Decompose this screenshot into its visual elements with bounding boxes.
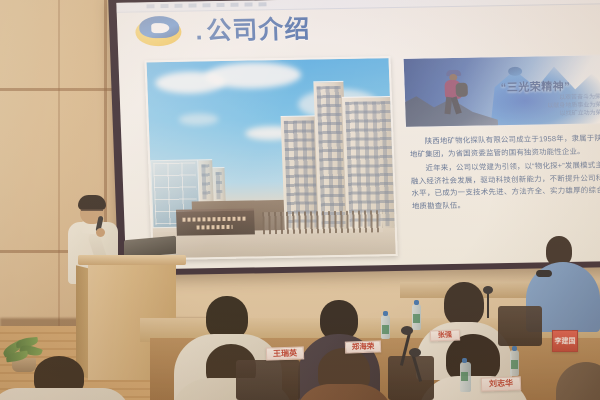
chair-back [236, 360, 300, 400]
audience-person-right-edge [556, 352, 600, 400]
audience-person-front-far-left [0, 356, 120, 400]
desk-microphone-stem [487, 292, 489, 318]
desk-microphone-head-icon [483, 286, 493, 294]
projection-screen-frame: .公司介绍 [108, 0, 600, 276]
water-bottle [460, 362, 471, 392]
water-bottle [510, 350, 519, 376]
slide-title-text: 公司介绍 [206, 15, 311, 45]
entrance-gate [262, 210, 383, 234]
nameplate: 刘志华 [481, 376, 521, 391]
desk-microphone-head-icon [401, 326, 413, 335]
company-name-monument [176, 208, 255, 235]
slide-header-bar [116, 0, 600, 13]
nameplate: 郑海荣 [345, 340, 381, 353]
slide-paragraph-2: 近年来，公司以党建为引领，以“物化探+”发展模式主动融入经济社会发展，驱动科技创… [410, 159, 600, 213]
wristwatch-icon [536, 270, 552, 277]
chair-back [498, 306, 542, 346]
slide-title-prefix: . [195, 17, 204, 45]
nameplate: 王瑞英 [266, 346, 304, 360]
chair-back [388, 356, 434, 400]
desk-microphone-head-icon [409, 348, 421, 357]
banner-logo-icon [508, 67, 522, 76]
banner-title: “三光荣精神” [500, 78, 570, 95]
slide-body-text: 陕西地矿物化探队有限公司成立于1958年，隶属于陕西地矿集团，为省国资委监管的国… [409, 132, 600, 215]
presentation-room-photo: .公司介绍 [0, 0, 600, 400]
geologist-hiker-figure [438, 70, 470, 114]
company-headquarters-photo [144, 56, 397, 260]
three-honors-spirit-banner: “三光荣精神” 以艰苦奋斗为荣 以献身地质事业为荣 以找矿立功为荣 [403, 54, 600, 127]
water-bottle [381, 315, 390, 339]
eyeglasses-icon [81, 209, 103, 214]
slide-paragraph-1: 陕西地矿物化探队有限公司成立于1958年，隶属于陕西地矿集团，为省国资委监管的国… [409, 132, 600, 161]
nameplate: 张强 [430, 329, 460, 341]
company-logo-emblem-icon [135, 14, 188, 49]
nameplate: 李建国 [552, 330, 578, 352]
water-bottle [412, 304, 421, 330]
banner-subtitle: 以艰苦奋斗为荣 以献身地质事业为荣 以找矿立功为荣 [523, 93, 600, 118]
slide-title: .公司介绍 [195, 9, 311, 47]
audience-person-front-center [300, 348, 388, 400]
projected-slide: .公司介绍 [116, 0, 600, 270]
slide-header-decoration [146, 2, 266, 8]
